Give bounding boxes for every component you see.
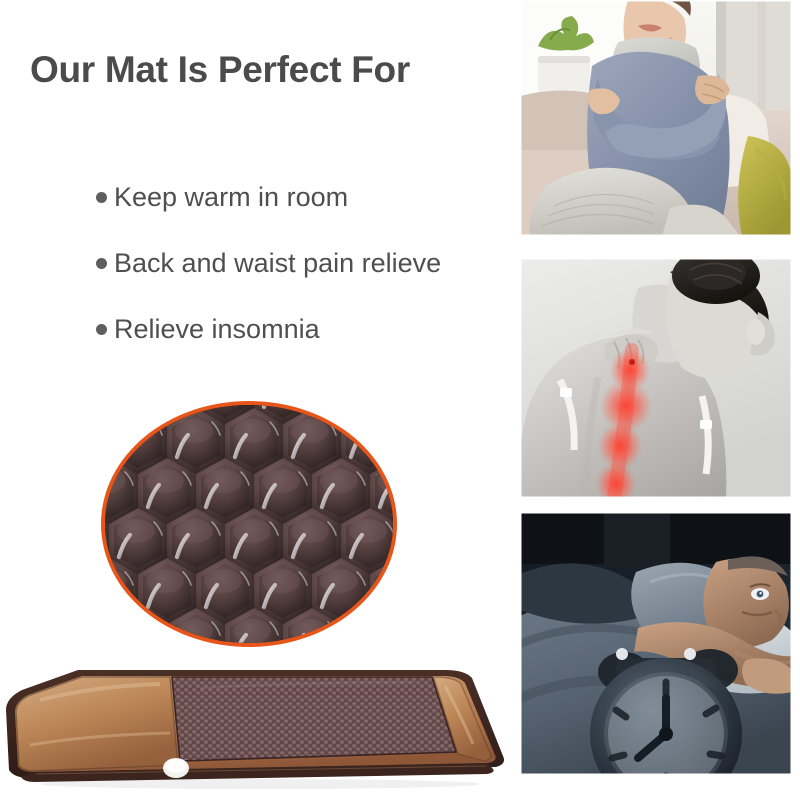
jade-heating-mat [0, 660, 510, 800]
photo-cold-woman [520, 0, 792, 236]
photo-neck-back-pain-graphic [520, 258, 792, 498]
list-item-label: Back and waist pain relieve [114, 250, 441, 277]
product-infographic: Our Mat Is Perfect For Keep warm in room… [0, 0, 800, 800]
list-item: Keep warm in room [96, 164, 516, 230]
list-item: Back and waist pain relieve [96, 230, 516, 296]
photo-insomnia-man-graphic [520, 512, 792, 775]
alarm-clock-icon [590, 648, 742, 775]
hexagon-stone-closeup [101, 401, 397, 647]
list-item: Relieve insomnia [96, 296, 516, 362]
bullet-dot-icon [96, 258, 107, 269]
list-item-label: Relieve insomnia [114, 316, 320, 343]
page-title: Our Mat Is Perfect For [30, 50, 500, 91]
jade-heating-mat-graphic [0, 660, 510, 800]
hexagon-pattern-graphic [101, 401, 397, 647]
bullet-dot-icon [96, 324, 107, 335]
list-item-label: Keep warm in room [114, 184, 348, 211]
photo-cold-woman-graphic [520, 0, 792, 236]
photo-neck-back-pain [520, 258, 792, 498]
hexagon-stone-texture [101, 401, 397, 647]
photo-insomnia-man [520, 512, 792, 775]
bullet-dot-icon [96, 192, 107, 203]
feature-list: Keep warm in room Back and waist pain re… [96, 164, 516, 362]
